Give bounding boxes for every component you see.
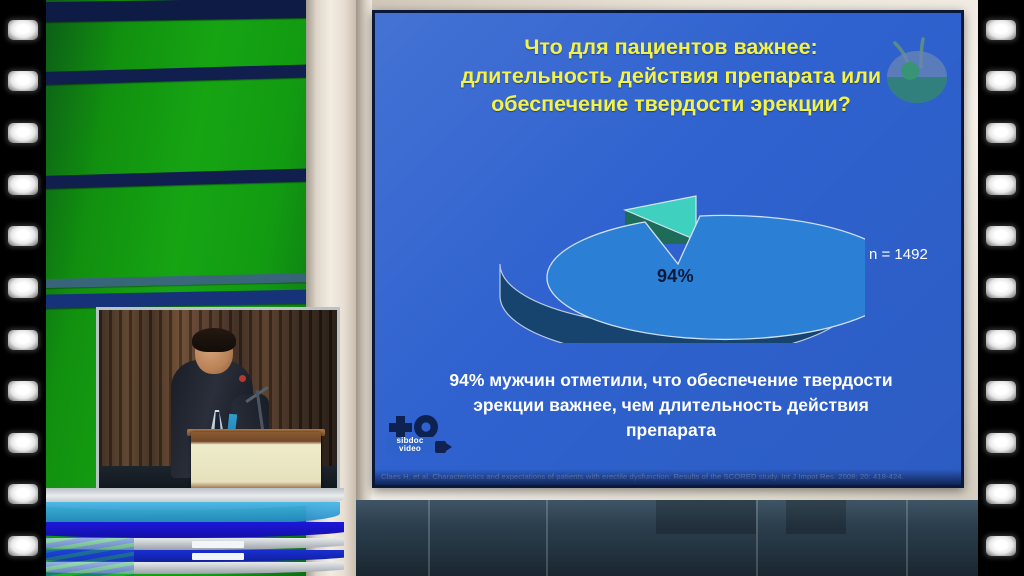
sample-size-label: n = 1492 [869, 246, 928, 263]
film-sprocket-hole [8, 484, 38, 504]
wall-stripe [44, 273, 326, 289]
film-sprocket-hole [8, 433, 38, 453]
slide-caption: 94% мужчин отметили, что обеспечение тве… [403, 368, 939, 443]
film-sprocket-hole [8, 278, 38, 298]
wall-base-panel [356, 500, 978, 576]
film-sprocket-hole [986, 20, 1016, 40]
panel-shade [786, 500, 846, 534]
sibdoc-logo-text: sibdoc video [387, 437, 433, 454]
film-sprocket-hole [8, 175, 38, 195]
presentation-slide[interactable]: Что для пациентов важнее: длительность д… [372, 10, 964, 488]
wall-stripe [44, 168, 326, 189]
film-sprocket-hole [986, 381, 1016, 401]
desk-light-graphic [44, 538, 134, 576]
sibdoc-video-logo: sibdoc video [385, 415, 453, 463]
film-sprocket-hole [8, 20, 38, 40]
film-sprocket-hole [8, 71, 38, 91]
slide-title: Что для пациентов важнее: длительность д… [409, 33, 933, 119]
film-sprocket-hole [986, 175, 1016, 195]
film-sprocket-hole [986, 536, 1016, 556]
sibdoc-logo-line-2: video [387, 445, 433, 453]
film-sprocket-hole [986, 278, 1016, 298]
video-camera-icon [435, 441, 446, 453]
speaker-inset-video[interactable] [96, 307, 340, 495]
wall-stripe [44, 289, 326, 309]
wall-stripe [44, 0, 326, 22]
panel-seam [546, 500, 548, 576]
desk-band [44, 522, 344, 538]
slide-caption-line-2: эрекции важнее, чем длительность действи… [403, 393, 939, 418]
podium [191, 432, 321, 490]
microphone-icon [239, 375, 246, 382]
slide-title-line-1: Что для пациентов важнее: [409, 33, 933, 62]
slide-citation: Claes H, et al. Characteristics and expe… [381, 472, 959, 481]
film-sprocket-hole [986, 433, 1016, 453]
film-sprocket-hole [986, 123, 1016, 143]
film-sprocket-hole [8, 123, 38, 143]
panel-shade [656, 500, 756, 534]
film-sprocket-hole [986, 226, 1016, 246]
film-sprocket-hole [8, 381, 38, 401]
film-sprocket-hole [8, 330, 38, 350]
slide-title-line-3: обеспечение твердости эрекции? [409, 90, 933, 119]
filmstrip-left [0, 0, 46, 576]
film-sprocket-hole [986, 484, 1016, 504]
video-player-frame: Что для пациентов важнее: длительность д… [0, 0, 1024, 576]
film-sprocket-hole [986, 71, 1016, 91]
pie-chart-svg [495, 178, 865, 343]
filmstrip-right [978, 0, 1024, 576]
desk-highlight [192, 553, 244, 560]
panel-seam [756, 500, 758, 576]
slide-caption-line-3: препарата [403, 418, 939, 443]
film-sprocket-hole [8, 536, 38, 556]
studio-desk [44, 488, 344, 576]
speaker-hair [192, 328, 236, 352]
wall-edge [356, 0, 372, 576]
wall-stripe [44, 64, 326, 85]
slide-caption-line-1: 94% мужчин отметили, что обеспечение тве… [403, 368, 939, 393]
film-sprocket-hole [8, 226, 38, 246]
pie-chart [495, 178, 865, 343]
pie-value-label: 94% [657, 266, 694, 287]
panel-seam [428, 500, 430, 576]
beetle-watermark-icon [877, 27, 953, 111]
desk-highlight [192, 541, 244, 548]
film-sprocket-hole [986, 330, 1016, 350]
panel-seam [906, 500, 908, 576]
slide-title-line-2: длительность действия препарата или [409, 62, 933, 91]
projection-wall: Что для пациентов важнее: длительность д… [356, 0, 978, 576]
